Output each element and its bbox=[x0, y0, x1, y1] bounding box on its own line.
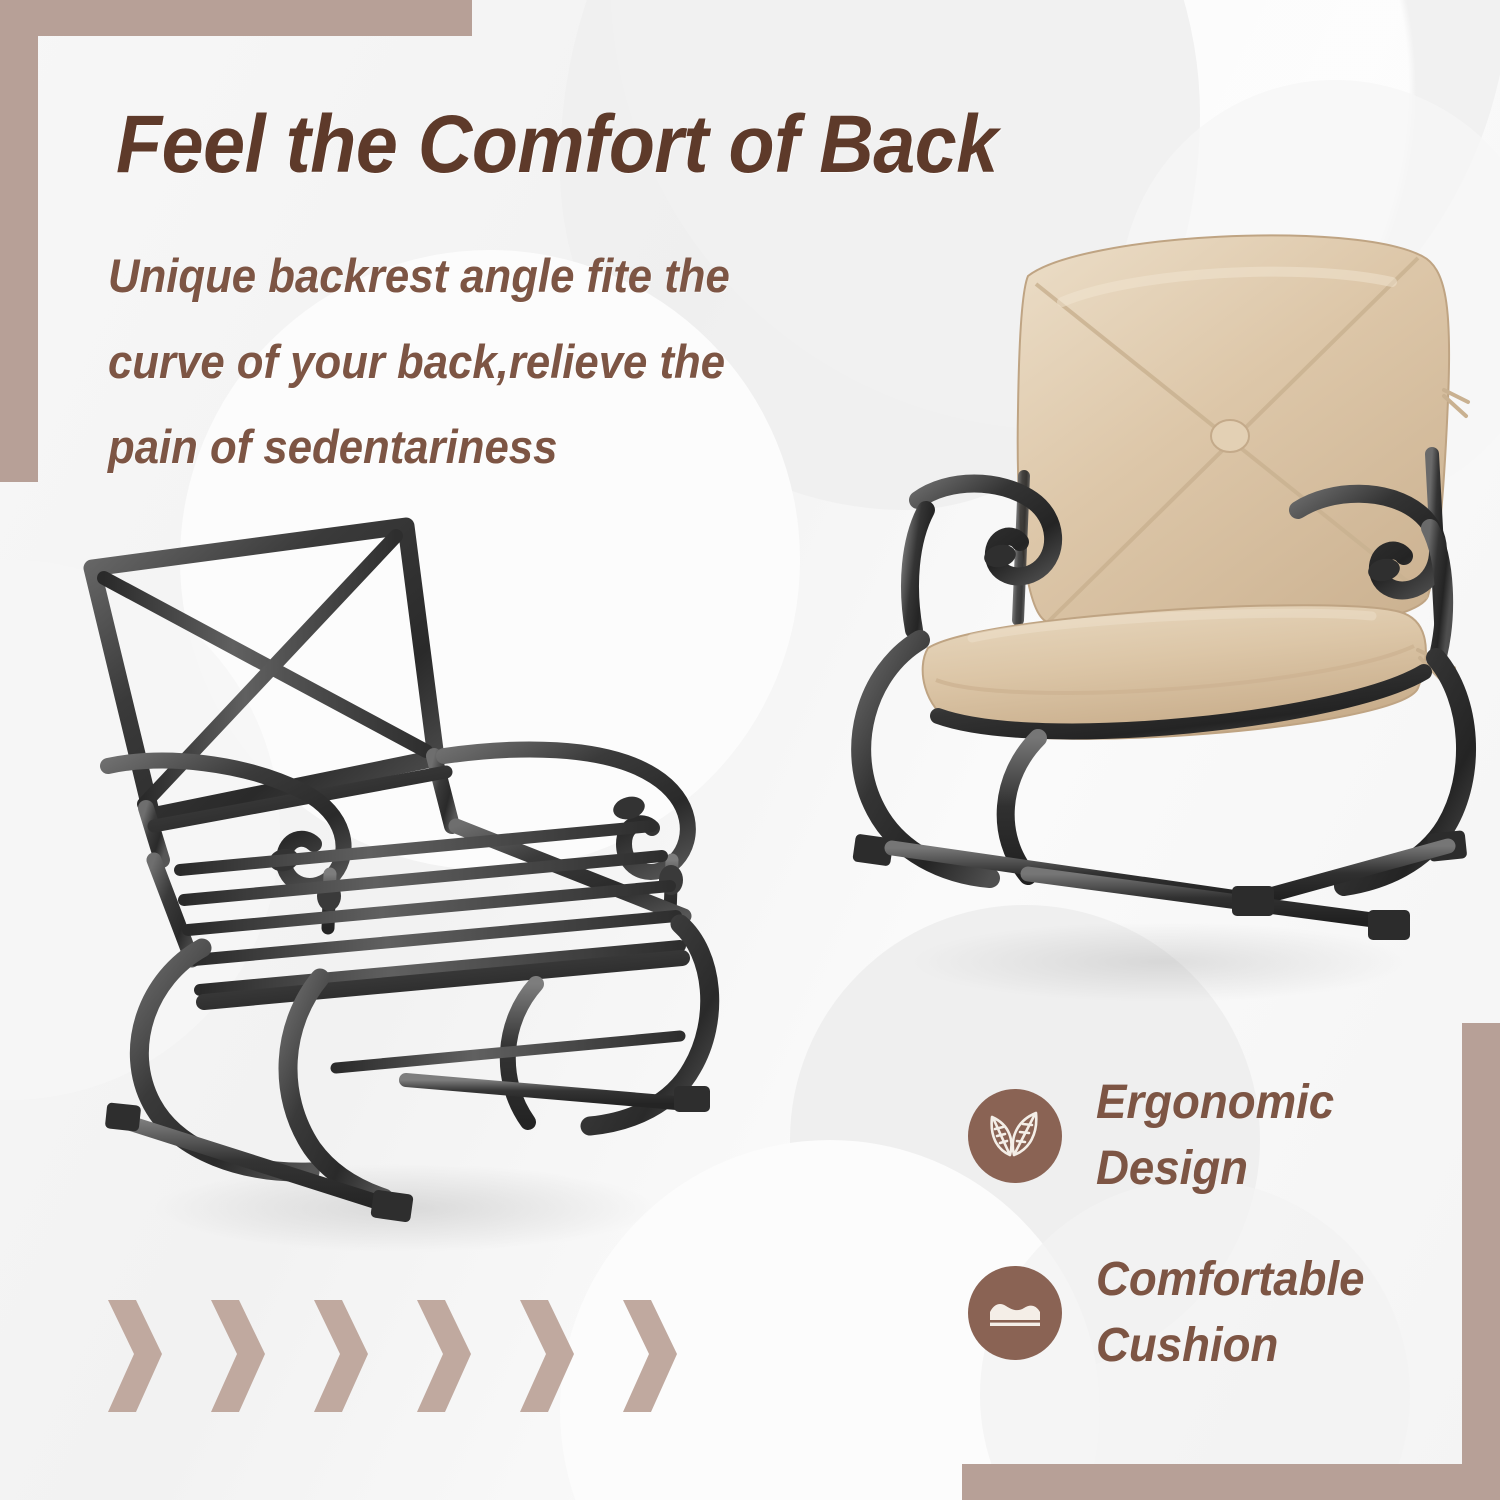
subtitle-line: Unique backrest angle fite the bbox=[108, 233, 843, 319]
chevron-arrow-strip bbox=[104, 1296, 724, 1416]
corner-bracket-top-left bbox=[0, 0, 472, 36]
chevron-right-icon bbox=[413, 1296, 475, 1416]
back-cushion bbox=[1018, 235, 1468, 641]
page-title: Feel the Comfort of Back bbox=[116, 104, 1146, 186]
subtitle-line: curve of your back,relieve the bbox=[108, 319, 843, 405]
cushion-icon bbox=[968, 1266, 1062, 1360]
feature-label: Comfortable Cushion bbox=[1096, 1247, 1365, 1379]
product-image-chair-cushioned bbox=[832, 210, 1482, 1020]
subtitle: Unique backrest angle fite the curve of … bbox=[108, 233, 843, 490]
feature-label: Ergonomic Design bbox=[1096, 1070, 1334, 1202]
chevron-right-icon bbox=[104, 1296, 166, 1416]
chevron-right-icon bbox=[207, 1296, 269, 1416]
feature-item-comfortable-cushion: Comfortable Cushion bbox=[968, 1247, 1379, 1379]
subtitle-line: pain of sedentariness bbox=[108, 404, 843, 490]
backrest-frame bbox=[92, 526, 452, 860]
chevron-right-icon bbox=[310, 1296, 372, 1416]
product-image-chair-frame bbox=[84, 508, 724, 1268]
chevron-right-icon bbox=[516, 1296, 578, 1416]
feature-item-ergonomic-design: Ergonomic Design bbox=[968, 1070, 1347, 1202]
corner-bracket-bottom-right bbox=[1462, 1023, 1500, 1500]
product-feature-image: Feel the Comfort of Back Unique backrest… bbox=[0, 0, 1500, 1500]
leaf-icon bbox=[968, 1089, 1062, 1183]
chevron-right-icon bbox=[619, 1296, 681, 1416]
seat-slats bbox=[154, 826, 684, 1002]
corner-bracket-top-left bbox=[0, 0, 38, 482]
corner-bracket-bottom-right bbox=[962, 1464, 1500, 1500]
